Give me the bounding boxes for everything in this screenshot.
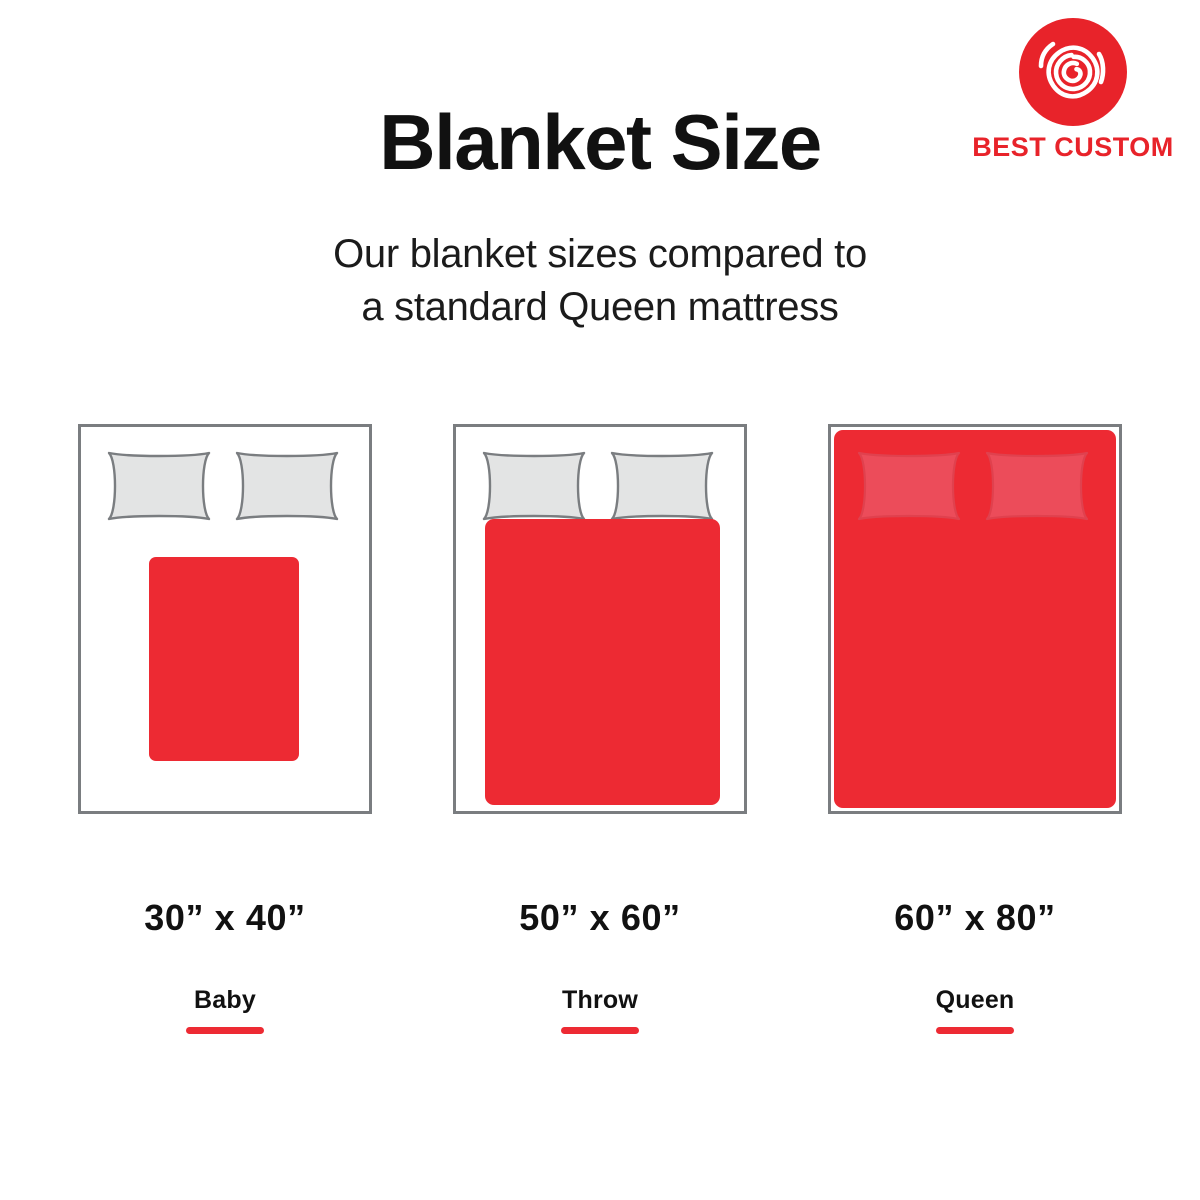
bed-diagram-throw: [453, 424, 747, 814]
pillow-icon: [478, 449, 590, 523]
caption-baby: 30” x 40” Baby: [55, 900, 395, 1034]
subtitle-line-2: a standard Queen mattress: [0, 281, 1200, 334]
size-name-label: Throw: [430, 988, 770, 1013]
bed-diagram-baby: [78, 424, 372, 814]
bed-diagram-queen: [828, 424, 1122, 814]
dimension-label: 30” x 40”: [55, 900, 395, 936]
blanket-size-infographic: BEST CUSTOM Blanket Size Our blanket siz…: [0, 0, 1200, 1200]
blanket-shape-queen: [834, 430, 1116, 808]
page-title: Blanket Size: [0, 103, 1200, 181]
blanket-shape-baby: [149, 557, 299, 761]
dimension-label: 50” x 60”: [430, 900, 770, 936]
size-name-label: Baby: [55, 988, 395, 1013]
caption-queen: 60” x 80” Queen: [805, 900, 1145, 1034]
dimension-label: 60” x 80”: [805, 900, 1145, 936]
pillow-icon: [231, 449, 343, 523]
pillow-icon: [103, 449, 215, 523]
pillow-under-blanket-icon: [853, 449, 965, 523]
pillow-icon: [606, 449, 718, 523]
blanket-shape-throw: [485, 519, 720, 805]
caption-throw: 50” x 60” Throw: [430, 900, 770, 1034]
subtitle-line-1: Our blanket sizes compared to: [0, 228, 1200, 281]
underline-rule: [561, 1027, 639, 1034]
page-subtitle: Our blanket sizes compared to a standard…: [0, 228, 1200, 334]
size-name-label: Queen: [805, 988, 1145, 1013]
underline-rule: [186, 1027, 264, 1034]
underline-rule: [936, 1027, 1014, 1034]
pillow-under-blanket-icon: [981, 449, 1093, 523]
